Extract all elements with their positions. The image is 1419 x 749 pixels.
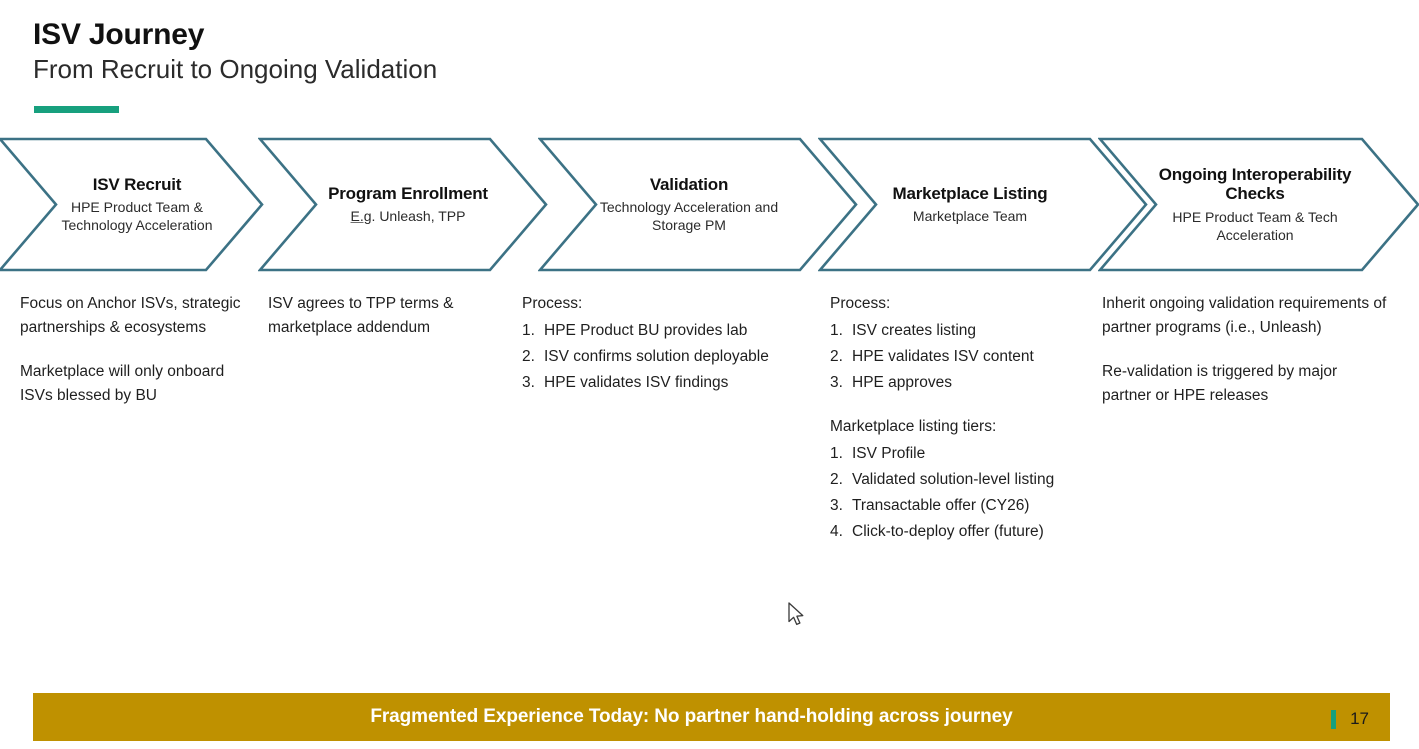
detail-column-program-enrollment: ISV agrees to TPP terms & marketplace ad… xyxy=(268,292,508,340)
title-accent-bar xyxy=(34,106,119,113)
column-lead: Process: xyxy=(522,292,822,316)
process-stage-ongoing-interoperability-checks[interactable] xyxy=(1098,137,1419,272)
list-item-number: 4. xyxy=(830,520,852,544)
list-item: 1. ISV Profile xyxy=(830,442,1120,466)
column-paragraph: ISV agrees to TPP terms & marketplace ad… xyxy=(268,292,508,340)
list-item-number: 1. xyxy=(830,319,852,343)
list-item-label: Validated solution-level listing xyxy=(852,468,1120,492)
list-item-label: HPE validates ISV content xyxy=(852,345,1120,369)
list-item-number: 2. xyxy=(830,345,852,369)
process-step-list: 1. ISV creates listing 2. HPE validates … xyxy=(830,319,1120,395)
column-paragraph: Re-validation is triggered by major part… xyxy=(1102,360,1388,408)
page-subtitle: From Recruit to Ongoing Validation xyxy=(33,54,733,85)
list-item-number: 3. xyxy=(830,494,852,518)
list-item: 4. Click-to-deploy offer (future) xyxy=(830,520,1120,544)
page-marker-accent-bar xyxy=(1331,710,1336,729)
list-item-number: 2. xyxy=(522,345,544,369)
list-item: 2. ISV confirms solution deployable xyxy=(522,345,822,369)
list-item-number: 3. xyxy=(830,371,852,395)
list-item-number: 2. xyxy=(830,468,852,492)
list-item: 3. HPE validates ISV findings xyxy=(522,371,822,395)
listing-tier-list: 1. ISV Profile 2. Validated solution-lev… xyxy=(830,442,1120,544)
list-item-number: 3. xyxy=(522,371,544,395)
list-item: 3. Transactable offer (CY26) xyxy=(830,494,1120,518)
page-marker: 17 xyxy=(1331,709,1369,729)
detail-column-isv-recruit: Focus on Anchor ISVs, strategic partners… xyxy=(20,292,252,408)
chevron-shape-3 xyxy=(538,137,858,272)
footer-banner-text: Fragmented Experience Today: No partner … xyxy=(370,706,1012,728)
list-item: 3. HPE approves xyxy=(830,371,1120,395)
list-item-label: HPE approves xyxy=(852,371,1120,395)
list-item-label: ISV Profile xyxy=(852,442,1120,466)
column-paragraph: Marketplace will only onboard ISVs bless… xyxy=(20,360,252,408)
page-number: 17 xyxy=(1350,709,1369,729)
detail-column-ongoing-interoperability: Inherit ongoing validation requirements … xyxy=(1102,292,1388,408)
list-item: 1. HPE Product BU provides lab xyxy=(522,319,822,343)
list-item-number: 1. xyxy=(522,319,544,343)
list-item-label: HPE validates ISV findings xyxy=(544,371,822,395)
column-lead: Process: xyxy=(830,292,1120,316)
list-item-label: Click-to-deploy offer (future) xyxy=(852,520,1120,544)
detail-column-marketplace-listing: Process: 1. ISV creates listing 2. HPE v… xyxy=(830,292,1120,544)
list-item: 1. ISV creates listing xyxy=(830,319,1120,343)
list-item: 2. Validated solution-level listing xyxy=(830,468,1120,492)
column-paragraph: Inherit ongoing validation requirements … xyxy=(1102,292,1388,340)
title-block: ISV Journey From Recruit to Ongoing Vali… xyxy=(33,18,733,84)
chevron-shape-5 xyxy=(1098,137,1419,272)
process-chevron-band: ISV Recruit HPE Product Team & Technolog… xyxy=(0,137,1419,272)
process-step-list: 1. HPE Product BU provides lab 2. ISV co… xyxy=(522,319,822,395)
process-stage-validation[interactable] xyxy=(538,137,858,272)
chevron-shape-1 xyxy=(0,137,264,272)
column-lead-tiers: Marketplace listing tiers: xyxy=(830,415,1120,439)
detail-column-validation: Process: 1. HPE Product BU provides lab … xyxy=(522,292,822,395)
process-stage-isv-recruit[interactable] xyxy=(0,137,264,272)
column-paragraph: Focus on Anchor ISVs, strategic partners… xyxy=(20,292,252,340)
list-item: 2. HPE validates ISV content xyxy=(830,345,1120,369)
list-item-label: ISV creates listing xyxy=(852,319,1120,343)
list-item-label: ISV confirms solution deployable xyxy=(544,345,822,369)
list-item-label: Transactable offer (CY26) xyxy=(852,494,1120,518)
list-item-number: 1. xyxy=(830,442,852,466)
chevron-shape-2 xyxy=(258,137,548,272)
list-item-label: HPE Product BU provides lab xyxy=(544,319,822,343)
spacer xyxy=(830,395,1120,415)
mouse-cursor-icon xyxy=(788,602,806,628)
process-stage-program-enrollment[interactable] xyxy=(258,137,548,272)
footer-banner: Fragmented Experience Today: No partner … xyxy=(33,693,1390,741)
page-title: ISV Journey xyxy=(33,18,733,52)
